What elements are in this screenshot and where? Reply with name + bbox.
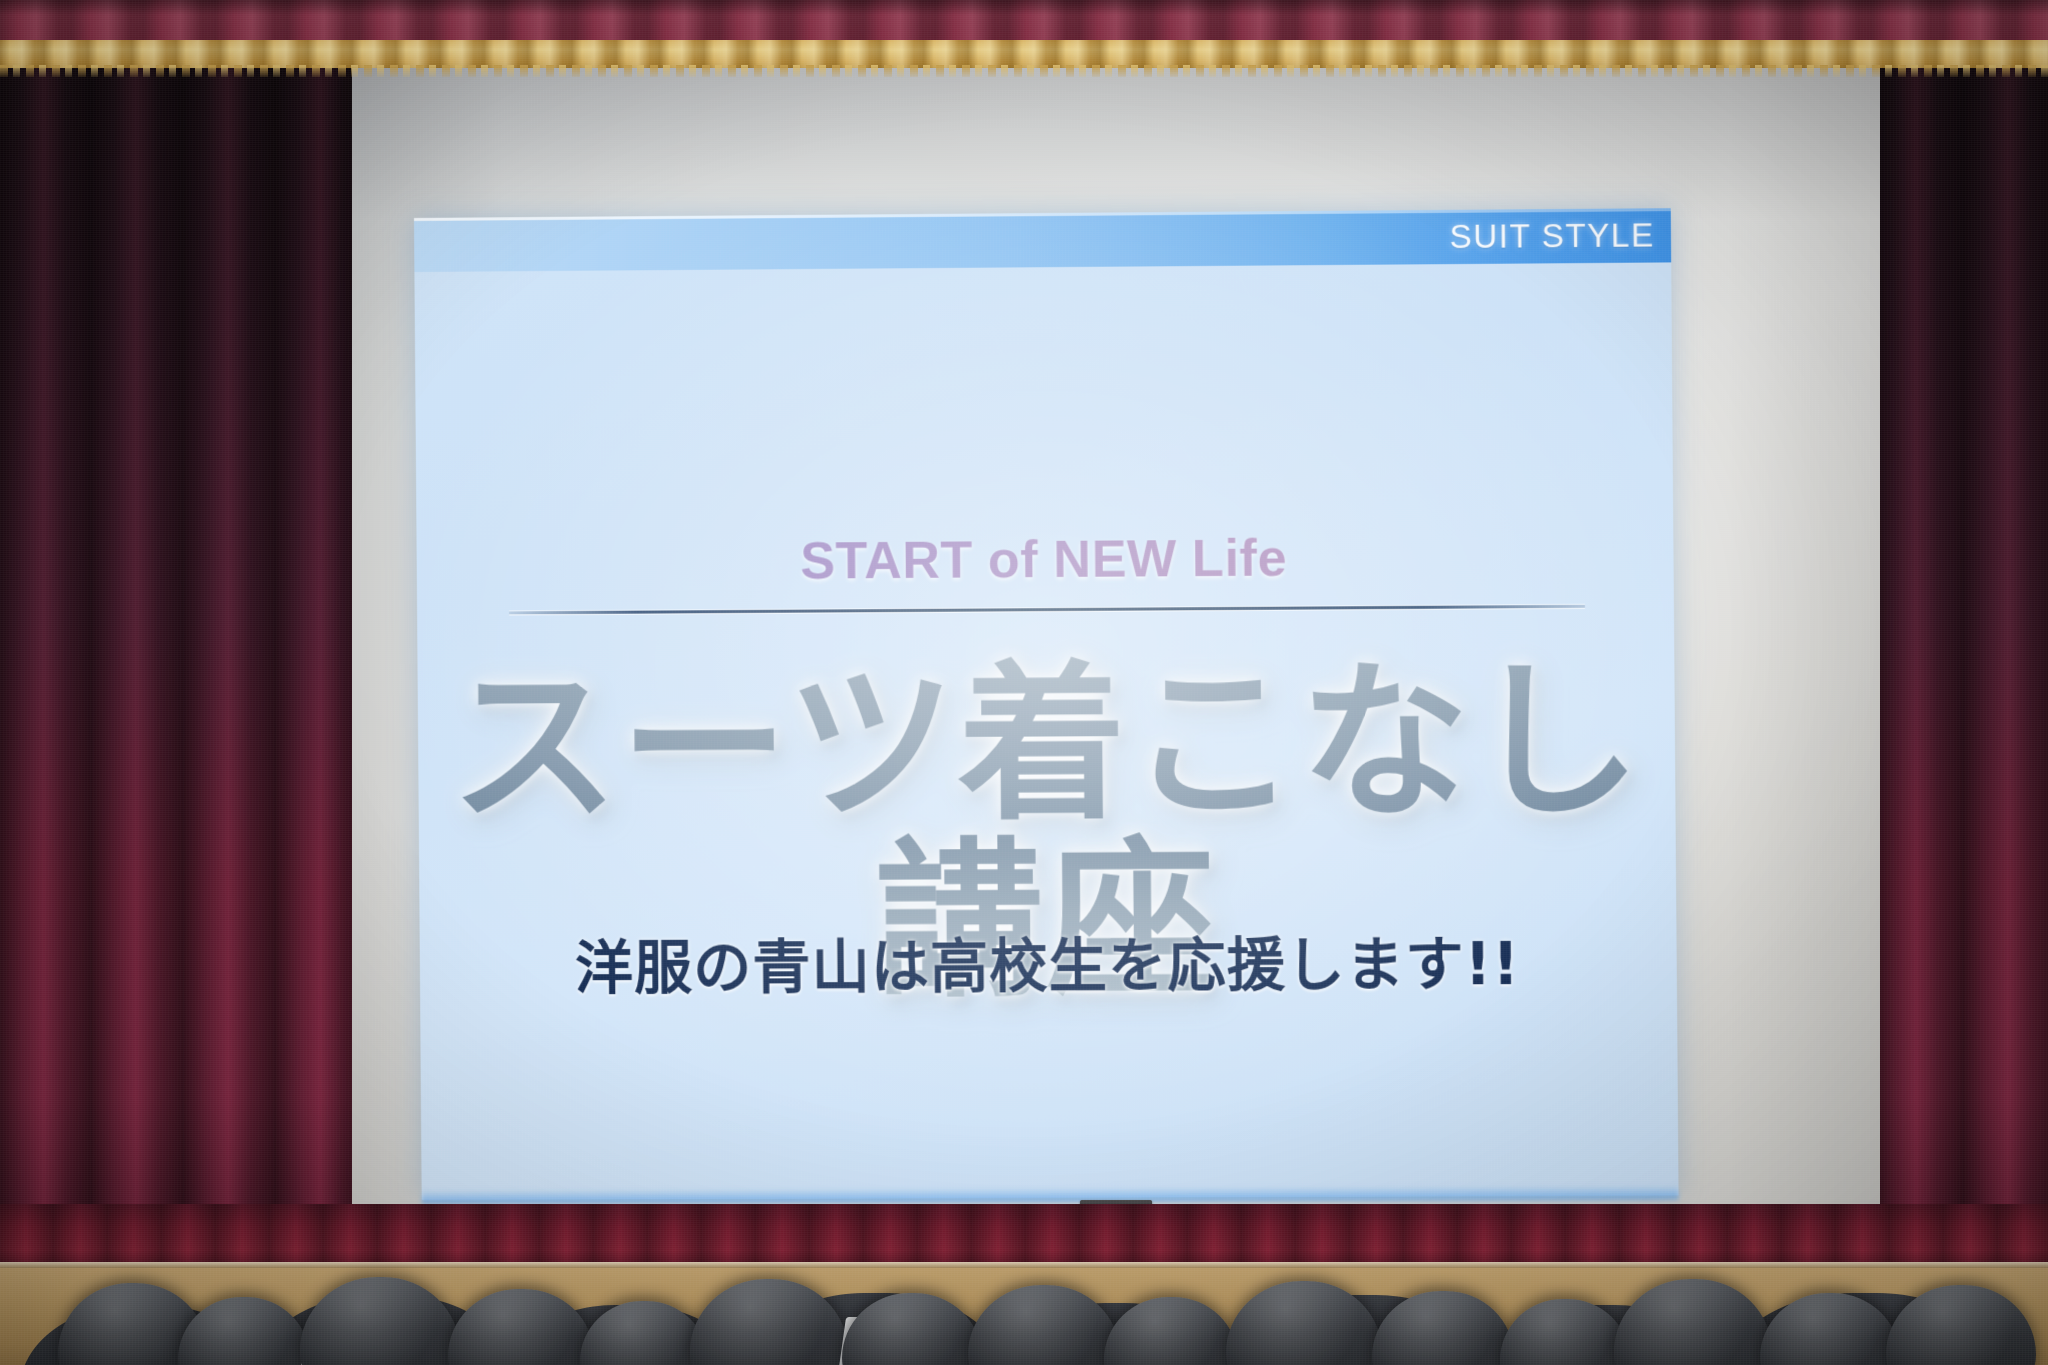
slide-eyebrow: START of NEW Life (416, 526, 1673, 594)
slide-divider (509, 605, 1585, 615)
slide-header-band: SUIT STYLE (414, 208, 1671, 272)
slide-content: START of NEW Life スーツ着こなし講座 洋服の青山は高校生を応援… (414, 262, 1678, 1200)
brand-label: SUIT STYLE (1449, 216, 1671, 256)
projected-slide: SUIT STYLE START of NEW Life スーツ着こなし講座 洋… (414, 208, 1679, 1200)
audience-head (448, 1289, 594, 1365)
audience-row (0, 1165, 2048, 1365)
gold-fringe-band (0, 40, 2048, 68)
slide-subhead: 洋服の青山は高校生を応援します!! (420, 916, 1677, 1006)
audience-head (300, 1277, 460, 1365)
audience-head (1226, 1281, 1382, 1365)
audience-head (178, 1297, 310, 1365)
audience-head (968, 1285, 1120, 1365)
valance-shadow (0, 0, 2048, 42)
audience-head (1614, 1279, 1772, 1365)
projection-screen: SUIT STYLE START of NEW Life スーツ着こなし講座 洋… (352, 58, 1880, 1218)
auditorium-photo: SUIT STYLE START of NEW Life スーツ着こなし講座 洋… (0, 0, 2048, 1365)
stage-curtain-left (0, 58, 374, 1238)
audience-head (690, 1279, 848, 1365)
stage-curtain-right (1872, 58, 2048, 1238)
